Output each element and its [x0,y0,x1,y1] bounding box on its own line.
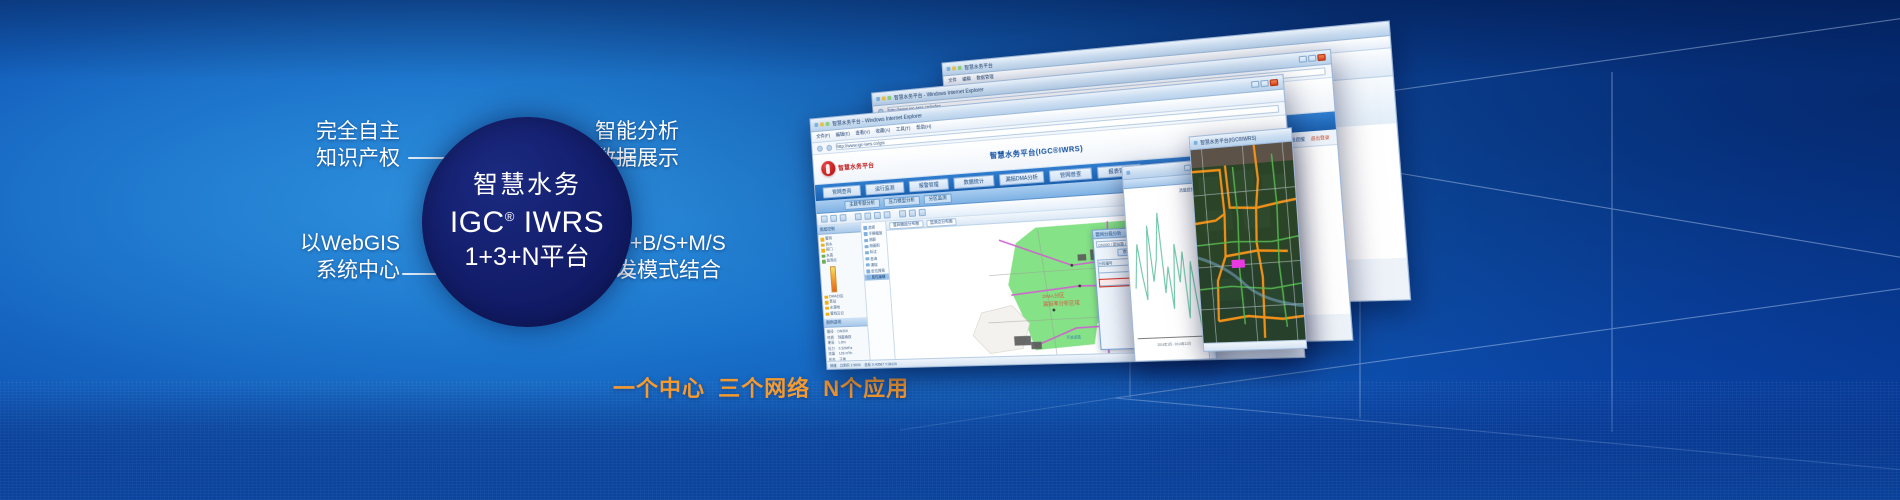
nav-button-monitoring[interactable]: 运行监测 [865,181,904,195]
identify-icon [909,209,916,217]
toolbar-link-logout[interactable]: 退出登录 [1310,134,1329,142]
tagline: 一个中心 三个网络 N个应用 [610,371,912,403]
map-tab[interactable]: 管网图层分布图 [889,220,923,229]
brand-second: IWRS [524,206,604,239]
subnav-button[interactable]: 压力模型分析 [883,195,920,207]
core-platform: 1+3+N平台 [464,242,589,272]
save-icon [840,214,847,221]
menu-file[interactable]: 文件 [948,77,957,84]
close-icon [1270,79,1279,86]
status-scale: 比例尺 1:5000 [840,362,861,368]
window-controls[interactable] [1126,171,1130,175]
window-back-title: 智慧水务平台 [964,61,993,71]
zoom-out-icon [864,212,871,220]
label-bottom-left: 以WebGIS 系统中心 [238,231,400,285]
nav-button-alarms[interactable]: 报警管理 [909,178,949,192]
new-icon [821,215,828,222]
menu-edit[interactable]: 编辑(E) [836,131,851,138]
tagline-part1: 一个中心 [613,376,705,401]
menu-help[interactable]: 帮助(H) [916,124,931,131]
core-cn-title: 智慧水务 [473,172,581,200]
window-controls[interactable] [946,66,961,71]
infographic: 完全自主 知识产权 以WebGIS 系统中心 智能分析 数据展示 C/S+B/S… [250,95,810,425]
label-top-right-line1: 智能分析 [595,119,679,146]
window-front-brand-title: 智慧水务平台(IGC®IWRS) [989,143,1083,161]
nav-button-statistics[interactable]: 数据统计 [953,174,994,188]
measure-icon [899,210,906,218]
core-brand: IGC®IWRS [450,206,604,241]
window-controls[interactable] [1194,141,1198,145]
zoom-in-icon [855,213,862,220]
menu-favorites[interactable]: 收藏(A) [875,127,890,134]
nav-button-dma[interactable]: 漏损DMA分析 [999,170,1045,185]
window-right-map[interactable]: 智慧水务平台(IGC®IWRS) [1189,127,1308,352]
hero-banner: 智慧水务平台 文件 编辑 数据管理 一张图 图层 定位 测距 查询 统计 报表 … [0,0,1900,500]
select-icon [883,211,890,219]
layer-item[interactable]: 管线注记 [825,310,864,317]
label-top-left: 完全自主 知识产权 [250,119,400,173]
satellite-map-graphic [1191,142,1306,346]
app-logo: 智慧水务平台 [821,157,875,176]
map-tab[interactable]: 监测点分布图 [926,218,957,227]
window-right-map-title: 智慧水务平台(IGC®IWRS) [1200,134,1256,146]
brand-main: IGC [450,206,505,239]
nav-button-survey[interactable]: 管网普查 [1049,167,1092,182]
window-buttons[interactable] [1299,54,1326,63]
label-top-left-line2: 知识产权 [250,146,400,173]
pan-icon [874,212,881,220]
subnav-button[interactable]: 分区监测 [923,193,952,204]
subnav-button[interactable]: 主题专题分析 [844,198,880,210]
label-top-left-line1: 完全自主 [250,119,400,146]
open-icon [830,215,837,222]
logo-text: 智慧水务平台 [838,160,875,172]
status-coords: 坐标 X:40567 Y:38120 [864,361,897,367]
window-buttons[interactable] [1251,79,1279,88]
forward-icon[interactable] [826,144,832,150]
water-drop-logo-icon [821,160,836,176]
tagline-part2: 三个网络 [718,376,810,401]
tool-attribute-edit[interactable]: 属性编辑 [865,273,889,280]
back-icon[interactable] [817,145,823,151]
menu-edit[interactable]: 编辑 [962,76,971,83]
print-icon [919,209,926,217]
layer-tree[interactable]: 管网 供水 阀门 水表 监测点 DMA分区 泵站 水源地 管线注记 [818,232,866,319]
label-bottom-left-line2: 系统中心 [238,258,400,285]
menu-file[interactable]: 文件(F) [816,133,830,140]
legend-color-ramp [830,266,837,292]
window-controls[interactable] [814,122,829,127]
core-circle: 智慧水务 IGC®IWRS 1+3+N平台 [422,117,632,327]
label-bottom-left-line1: 以WebGIS [238,231,400,258]
nav-button-pipe-query[interactable]: 管网查询 [823,184,862,198]
menu-view[interactable]: 查看(V) [855,129,870,136]
tagline-part3: N个应用 [823,376,909,401]
close-icon [1317,54,1326,61]
layer-item[interactable]: 监测点 [822,257,861,265]
menu-tools[interactable]: 工具(T) [896,126,911,133]
status-ready: 就绪 [830,363,837,368]
registered-mark: ® [505,209,515,224]
window-controls[interactable] [876,96,891,101]
svg-text:环城南路: 环城南路 [1066,334,1082,340]
